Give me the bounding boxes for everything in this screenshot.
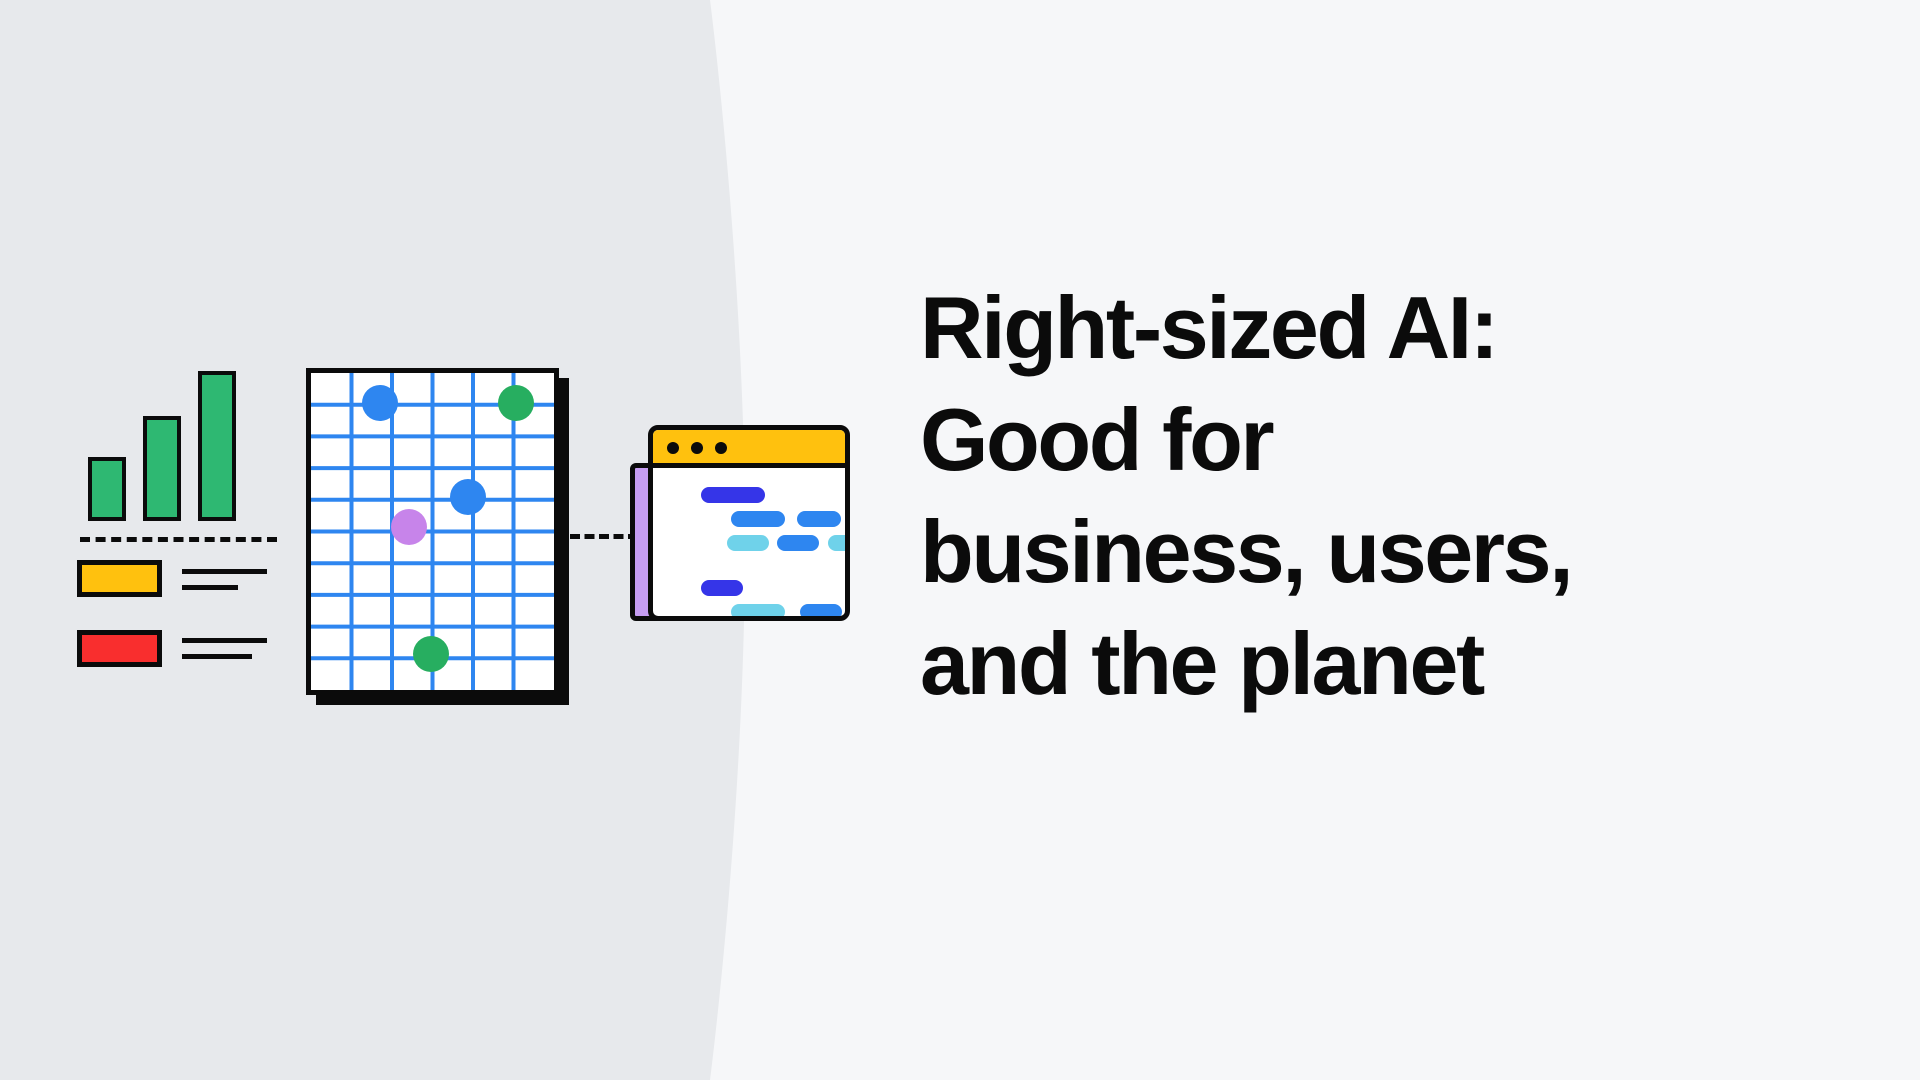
dashed-connector [570, 534, 638, 539]
code-line [777, 535, 819, 551]
window-dot-maximize-icon[interactable] [715, 442, 727, 454]
window-dot-close-icon[interactable] [667, 442, 679, 454]
code-line [828, 535, 850, 551]
point-green-1 [498, 385, 534, 421]
page-title-line-4: and the planet [920, 608, 1800, 720]
code-line [731, 604, 785, 620]
browser-code-window [630, 425, 870, 625]
code-line [797, 511, 841, 527]
bar-3 [198, 371, 236, 521]
window-dot-minimize-icon[interactable] [691, 442, 703, 454]
page-title-line-2: Good for [920, 384, 1800, 496]
code-line [701, 580, 743, 596]
code-line [727, 535, 769, 551]
legend-rule-critical-1 [182, 638, 267, 643]
code-line [701, 487, 765, 503]
page-title-line-3: business, users, [920, 496, 1800, 608]
bar-2 [143, 416, 181, 521]
illustration-group [0, 0, 900, 1080]
legend-rule-warning-2 [182, 585, 238, 590]
legend-swatch-warning [77, 560, 162, 597]
browser-frame [648, 425, 850, 621]
page-title-line-1: Right-sized AI: [920, 272, 1800, 384]
legend-swatch-critical [77, 630, 162, 667]
legend-rule-critical-2 [182, 654, 252, 659]
point-green-2 [413, 636, 449, 672]
browser-titlebar [653, 430, 845, 468]
code-line [731, 511, 785, 527]
bar-1 [88, 457, 126, 521]
legend-rule-warning-1 [182, 569, 267, 574]
point-purple-1 [391, 509, 427, 545]
dashed-divider [80, 537, 277, 542]
scatter-grid-lines [311, 373, 554, 690]
page-title: Right-sized AI: Good for business, users… [920, 272, 1800, 720]
point-blue-1 [362, 385, 398, 421]
code-line [800, 604, 842, 620]
hero-banner: Right-sized AI: Good for business, users… [0, 0, 1920, 1080]
point-blue-2 [450, 479, 486, 515]
scatter-grid-surface [306, 368, 559, 695]
